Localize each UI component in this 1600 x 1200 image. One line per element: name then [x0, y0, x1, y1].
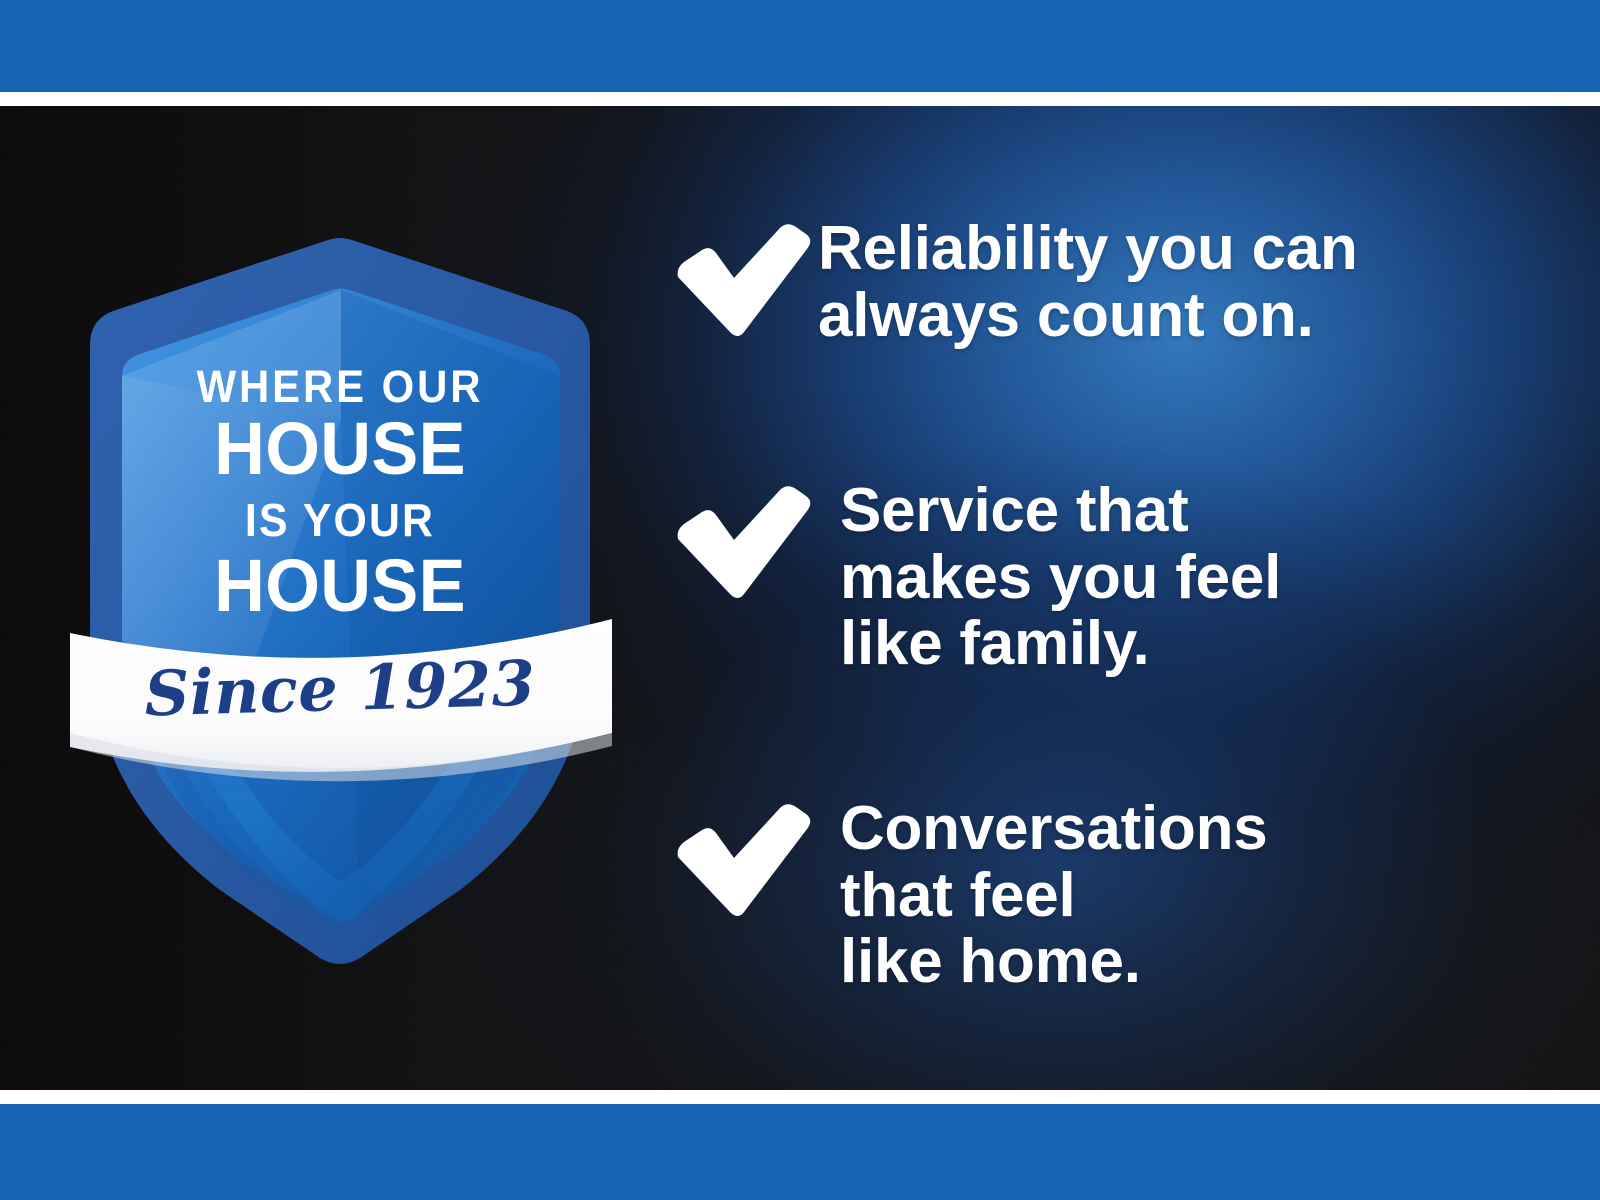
top-brand-bar: [0, 0, 1600, 92]
shield-badge-icon: [60, 170, 620, 960]
check-icon: [672, 796, 818, 922]
bottom-brand-bar: [0, 1104, 1600, 1200]
top-white-stripe: [0, 92, 1600, 106]
list-item: Conversations that feel like home.: [672, 796, 1267, 996]
shield-badge: WHERE OUR HOUSE IS YOUR HOUSE Since 1923: [60, 170, 620, 960]
check-icon: [672, 478, 818, 604]
list-item-label: Conversations that feel like home.: [818, 796, 1267, 996]
check-icon: [672, 216, 818, 342]
list-item: Reliability you can always count on.: [672, 216, 1358, 349]
list-item: Service that makes you feel like family.: [672, 478, 1281, 678]
list-item-label: Service that makes you feel like family.: [818, 478, 1281, 678]
benefits-list: Reliability you can always count on. Ser…: [672, 106, 1552, 1090]
list-item-label: Reliability you can always count on.: [818, 216, 1358, 349]
bottom-white-stripe: [0, 1090, 1600, 1104]
promo-graphic: WHERE OUR HOUSE IS YOUR HOUSE Since 1923…: [0, 0, 1600, 1200]
